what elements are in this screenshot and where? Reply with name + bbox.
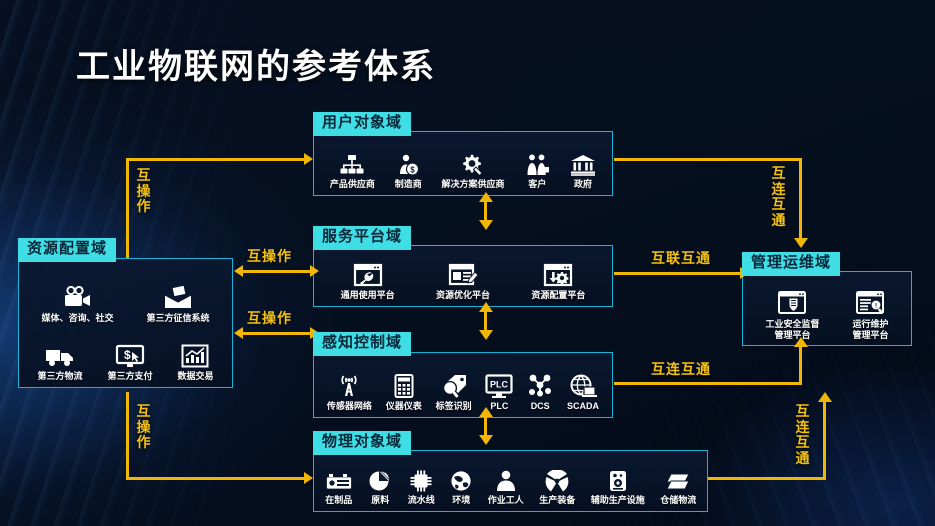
connector-left-bottom-horizontal (126, 477, 306, 480)
item-label: 工业安全监督 管理平台 (765, 319, 819, 340)
window-wrench-icon (353, 263, 383, 287)
item-label: 运行维护 管理平台 (852, 319, 888, 340)
item-plc[interactable]: PLC PLC (485, 374, 513, 411)
item-raw-material[interactable]: 原料 (368, 470, 392, 505)
page-title: 工业物联网的参考体系 (76, 39, 436, 88)
resource-items-row-2: 第三方物流 $ 第三方支付 数据交易 (19, 344, 232, 381)
connector-left-top-horizontal (126, 158, 306, 161)
item-environment[interactable]: 环境 (450, 470, 472, 505)
connector-left-bottom-vertical (126, 392, 129, 480)
svg-text:$: $ (124, 348, 131, 362)
org-tree-icon (339, 154, 365, 176)
item-industrial-safety-platform[interactable]: 工业安全监督 管理平台 (765, 290, 819, 340)
item-production-equipment[interactable]: 生产装备 (539, 470, 575, 505)
antenna-signal-icon (337, 374, 361, 398)
connector-sense-physical-arrow-down (479, 435, 493, 445)
connector-sense-physical-arrow-up (479, 407, 493, 417)
user-items-row: 产品供应商 $ 制造商 解决方案供应商 客户 (314, 154, 612, 189)
svg-text:!: ! (875, 303, 877, 310)
connector-label-right-upper-mid: 互联互通 (651, 248, 711, 268)
item-dcs[interactable]: DCS (527, 374, 553, 411)
gear-wrench-icon (460, 154, 486, 176)
item-label: 通用使用平台 (341, 290, 395, 300)
item-manufacturer[interactable]: $ 制造商 (395, 154, 422, 189)
connector-mid-lower-arrow-left (234, 327, 243, 339)
item-label: 仓储物流 (660, 495, 696, 505)
panel-management-domain[interactable]: 工业安全监督 管理平台 ! 运行维护 管理平台 (742, 271, 912, 346)
item-general-use-platform[interactable]: 通用使用平台 (341, 263, 395, 300)
connector-mid-upper-arrow-left (234, 265, 243, 277)
item-customer[interactable]: 客户 (524, 154, 550, 189)
connector-left-top-arrowhead (304, 153, 313, 165)
panel-label-service-domain: 服务平台域 (313, 226, 411, 250)
connector-mid-upper-line (241, 270, 313, 273)
item-label: 媒体、咨询、社交 (41, 313, 113, 323)
connector-right-top-vertical (799, 158, 802, 240)
physical-items-row: 在制品 原料 流水线 环境 (314, 470, 707, 505)
bank-icon (570, 154, 596, 176)
panel-label-sense-domain: 感知控制域 (313, 332, 411, 356)
connector-left-top-vertical (126, 158, 129, 258)
panel-user-domain[interactable]: 产品供应商 $ 制造商 解决方案供应商 客户 (313, 131, 613, 196)
control-cabinet-icon (608, 470, 628, 492)
shield-window-icon (776, 290, 808, 316)
connector-right-bottom-arrowhead (818, 392, 832, 402)
connector-right-lower-mid-arrowhead (794, 337, 808, 347)
panel-resource-domain[interactable]: 媒体、咨询、社交 第三方征信系统 第三方物流 $ 第三方支付 (18, 258, 233, 388)
connector-user-service-arrow-up (479, 192, 493, 202)
connector-right-bottom-horizontal (708, 477, 826, 480)
panel-label-resource-domain: 资源配置域 (18, 238, 116, 262)
item-resource-allocation-platform[interactable]: 资源配置平台 (531, 263, 585, 300)
connector-right-lower-mid-vertical (799, 345, 802, 385)
connector-user-service-arrow-down (479, 220, 493, 230)
tag-magnifier-icon (441, 374, 467, 398)
panel-sense-domain[interactable]: 传感器网络 仪器仪表 标签识别 PLC PLC (313, 352, 613, 418)
item-assembly-line[interactable]: 流水线 (408, 470, 435, 505)
item-resource-optimization-platform[interactable]: 资源优化平台 (436, 263, 490, 300)
chart-window-icon (181, 344, 209, 368)
item-label: 流水线 (408, 495, 435, 505)
panel-label-management-domain: 管理运维域 (742, 252, 840, 276)
item-label: 制造商 (395, 179, 422, 189)
item-label: 政府 (574, 179, 592, 189)
item-label: 传感器网络 (327, 401, 372, 411)
connector-right-lower-mid-horizontal (614, 382, 802, 385)
item-label: 产品供应商 (330, 179, 375, 189)
machine-icon (325, 472, 353, 492)
item-media-consult-social[interactable]: 媒体、咨询、社交 (41, 286, 113, 323)
item-data-trading[interactable]: 数据交易 (177, 344, 213, 381)
item-label: DCS (531, 401, 550, 411)
item-operating-worker[interactable]: 作业工人 (488, 470, 524, 505)
item-third-party-payment[interactable]: $ 第三方支付 (107, 344, 152, 381)
resource-items-row-1: 媒体、咨询、社交 第三方征信系统 (19, 286, 232, 323)
connector-mid-lower-line (241, 332, 313, 335)
connector-right-top-arrowhead (794, 238, 808, 248)
chip-icon (409, 470, 433, 492)
management-items-row: 工业安全监督 管理平台 ! 运行维护 管理平台 (743, 290, 911, 340)
connector-right-upper-mid-line (614, 272, 742, 275)
item-third-party-logistics[interactable]: 第三方物流 (37, 344, 82, 381)
connector-service-sense-arrow-up (479, 302, 493, 312)
envelope-documents-icon (163, 286, 193, 310)
connector-right-bottom-vertical (823, 400, 826, 480)
node-network-icon (527, 374, 553, 398)
connector-mid-upper-arrow-right (310, 265, 319, 277)
globe-laptop-icon (569, 374, 597, 398)
window-pencil-icon (448, 263, 478, 287)
truck-icon (44, 344, 76, 368)
item-label: 资源优化平台 (436, 290, 490, 300)
globe-icon (450, 470, 472, 492)
item-label: 第三方征信系统 (146, 313, 209, 323)
item-work-in-progress[interactable]: 在制品 (325, 472, 353, 505)
svg-text:$: $ (410, 165, 415, 174)
panel-physical-domain[interactable]: 在制品 原料 流水线 环境 (313, 450, 708, 512)
window-download-gear-icon (543, 263, 573, 287)
calculator-meter-icon (394, 374, 414, 398)
connector-right-top-horizontal (614, 158, 802, 161)
connector-label-left-top: 互 操 作 (136, 168, 152, 215)
item-label: 环境 (452, 495, 470, 505)
video-camera-icon (62, 286, 92, 310)
item-label: 解决方案供应商 (441, 179, 504, 189)
connector-left-bottom-arrowhead (304, 472, 313, 484)
plc-monitor-icon: PLC (485, 374, 513, 398)
item-label: 第三方支付 (107, 371, 152, 381)
window-search-icon: ! (854, 290, 886, 316)
item-operation-maintenance-platform[interactable]: ! 运行维护 管理平台 (852, 290, 888, 340)
item-label: 数据交易 (177, 371, 213, 381)
connector-label-right-bottom: 互 连 互 通 (795, 404, 811, 467)
connector-label-mid-lower: 互操作 (247, 308, 292, 328)
item-label: 标签识别 (436, 401, 472, 411)
sense-items-row: 传感器网络 仪器仪表 标签识别 PLC PLC (314, 374, 612, 411)
item-label: 仪器仪表 (386, 401, 422, 411)
worker-coin-icon: $ (396, 154, 420, 176)
panel-label-physical-domain: 物理对象域 (313, 431, 411, 455)
item-label: PLC (490, 401, 508, 411)
connector-label-left-bottom: 互 操 作 (136, 404, 152, 451)
pie-material-icon (368, 470, 392, 492)
panel-service-domain[interactable]: 通用使用平台 资源优化平台 资源配置平台 (313, 245, 613, 307)
item-solution-supplier[interactable]: 解决方案供应商 (441, 154, 504, 189)
two-people-icon (524, 154, 550, 176)
item-scada[interactable]: SCADA (567, 374, 599, 411)
item-label: 辅助生产设施 (591, 495, 645, 505)
item-instrumentation[interactable]: 仪器仪表 (386, 374, 422, 411)
connector-label-right-top: 互 连 互 通 (771, 166, 787, 229)
radiation-equipment-icon (545, 470, 569, 492)
item-label: 第三方物流 (37, 371, 82, 381)
diagram-canvas: 工业物联网的参考体系 互 操 作 互 操 作 互操作 互操作 互 连 互 通 互… (0, 0, 935, 526)
item-label: 客户 (528, 179, 546, 189)
item-label: SCADA (567, 401, 599, 411)
item-label: 作业工人 (488, 495, 524, 505)
panel-label-user-domain: 用户对象域 (313, 112, 411, 136)
item-third-party-credit[interactable]: 第三方征信系统 (146, 286, 209, 323)
item-auxiliary-facility[interactable]: 辅助生产设施 (591, 470, 645, 505)
service-items-row: 通用使用平台 资源优化平台 资源配置平台 (314, 263, 612, 300)
svg-text:PLC: PLC (490, 379, 509, 389)
connector-service-sense-arrow-down (479, 330, 493, 340)
item-label: 在制品 (325, 495, 352, 505)
item-tag-recognition[interactable]: 标签识别 (436, 374, 472, 411)
payment-monitor-icon: $ (115, 344, 145, 368)
item-label: 生产装备 (539, 495, 575, 505)
connector-label-right-lower-mid: 互连互通 (651, 359, 711, 379)
item-government[interactable]: 政府 (570, 154, 596, 189)
item-product-supplier[interactable]: 产品供应商 (330, 154, 375, 189)
item-sensor-network[interactable]: 传感器网络 (327, 374, 372, 411)
item-warehouse-logistics[interactable]: 仓储物流 (660, 472, 696, 505)
item-label: 原料 (371, 495, 389, 505)
connector-label-mid-upper: 互操作 (247, 246, 292, 266)
package-stack-icon (665, 472, 691, 492)
worker-person-icon (495, 470, 517, 492)
item-label: 资源配置平台 (531, 290, 585, 300)
